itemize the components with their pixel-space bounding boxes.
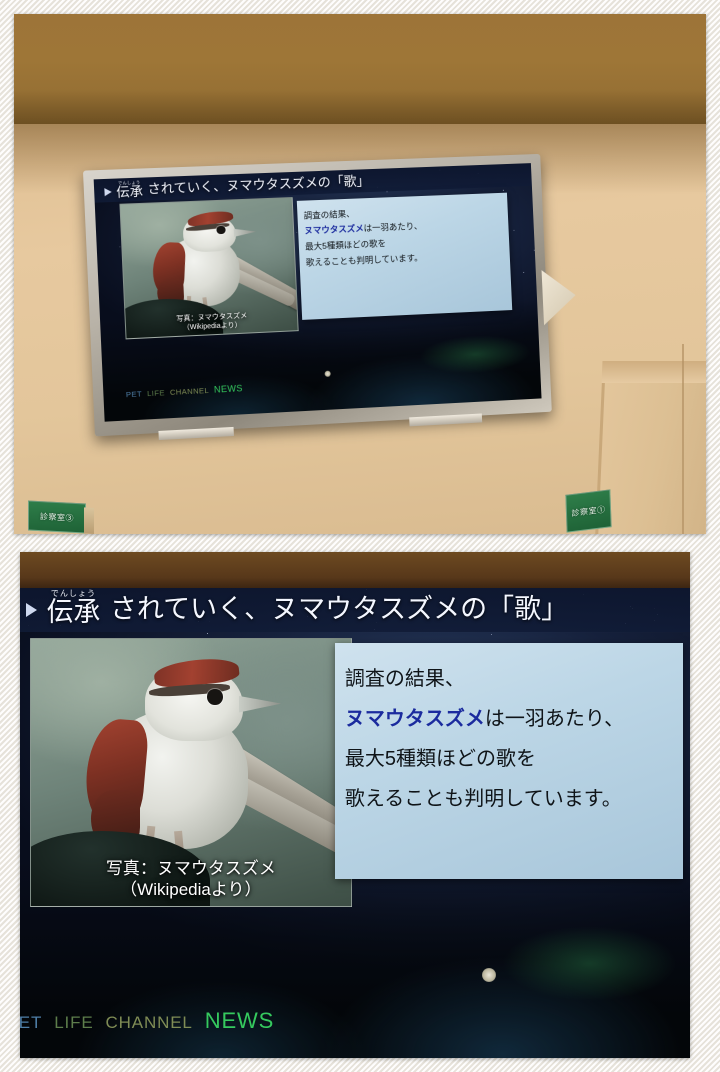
door-recess (595, 361, 706, 534)
channel-branding: PET LIFE CHANNEL NEWS (20, 1008, 274, 1034)
door-header-trim (602, 361, 706, 383)
tv-screen: でんしょう 伝承 されていく、ヌマウタスズメの「歌」 (94, 163, 542, 422)
bird-beak (233, 227, 256, 238)
wall-mounted-tv: でんしょう 伝承 されていく、ヌマウタスズメの「歌」 (83, 154, 552, 437)
body-line-2-rest: は一羽あたり、 (363, 221, 422, 233)
title-ruby-base: 伝承 (46, 599, 100, 626)
slide-body-panel: 調査の結果、 ヌマウタスズメは一羽あたり、 最大5種類ほどの歌を 歌えることも判… (335, 643, 683, 879)
broadcast-slide-closeup: でんしょう 伝承 されていく、ヌマウタスズメの「歌」 (20, 586, 690, 1058)
title-ruby-text: でんしょう (51, 590, 96, 598)
slide-surface: でんしょう 伝承 されていく、ヌマウタスズメの「歌」 (20, 586, 690, 1058)
body-line-2-rest: は一羽あたり、 (485, 708, 624, 730)
photo-caption-line1: 写真：ヌマウタスズメ (31, 858, 351, 879)
landscape-glow (419, 333, 532, 376)
title-rest-text: されていく、ヌマウタスズメの「歌」 (110, 587, 568, 626)
brand-pet: PET (20, 1013, 42, 1033)
brand-channel: CHANNEL (106, 1013, 193, 1033)
landscape-glow (502, 926, 676, 1002)
photo-caption-line2: （Wikipediaより） (31, 879, 351, 900)
sign-mount-tab (84, 507, 94, 534)
body-line-2: ヌマウタスズメは一羽あたり、 (345, 699, 673, 739)
broadcast-slide: でんしょう 伝承 されていく、ヌマウタスズメの「歌」 (94, 163, 542, 422)
body-highlight-term: ヌマウタスズメ (304, 224, 364, 236)
light-dot (325, 370, 331, 376)
room-sign-plate-3: 診察室③ (28, 500, 86, 533)
slide-title-bar: でんしょう 伝承 されていく、ヌマウタスズメの「歌」 (20, 586, 690, 632)
slide-body-panel: 調査の結果、 ヌマウタスズメは一羽あたり、 最大5種類ほどの歌を 歌えることも判… (297, 192, 512, 320)
title-ruby-group: でんしょう 伝承 (116, 180, 143, 199)
body-highlight-term: ヌマウタスズメ (345, 708, 485, 730)
body-line-3: 最大5種類ほどの歌を (345, 739, 673, 779)
ceiling (14, 14, 706, 130)
room-sign-plate-1: 診察室① (565, 489, 611, 532)
slide-bird-photo: 写真：ヌマウタスズメ （Wikipediaより） (120, 197, 299, 339)
play-triangle-icon (26, 603, 37, 617)
brand-pet: PET (126, 389, 142, 399)
title-ruby-group: でんしょう 伝承 (46, 590, 100, 626)
photo-collage-page: 診察室③ 診察室① でんしょう (0, 0, 720, 1072)
wood-trim-above-screen (20, 552, 690, 588)
slide-bird-photo: 写真：ヌマウタスズメ （Wikipediaより） (30, 638, 352, 907)
brand-news: NEWS (205, 1008, 274, 1034)
room-sign-label: 診察室③ (40, 511, 74, 524)
photo-screen-closeup: でんしょう 伝承 されていく、ヌマウタスズメの「歌」 (20, 552, 690, 1058)
body-line-1: 調査の結果、 (345, 659, 673, 699)
brand-news: NEWS (214, 383, 243, 395)
photo-caption: 写真：ヌマウタスズメ （Wikipediaより） (31, 858, 351, 901)
brand-life: LIFE (54, 1013, 93, 1033)
room-sign-label: 診察室① (571, 503, 605, 518)
bird-eye (217, 226, 226, 234)
play-triangle-icon (104, 188, 112, 196)
photo-room-with-tv: 診察室③ 診察室① でんしょう (14, 14, 706, 534)
body-line-4: 歌えることも判明しています。 (345, 779, 673, 819)
brand-life: LIFE (147, 388, 165, 398)
wall-seam (682, 344, 684, 534)
title-ruby-base: 伝承 (116, 185, 143, 199)
title-ruby-text: でんしょう (118, 180, 140, 185)
bird-beak (239, 694, 282, 714)
